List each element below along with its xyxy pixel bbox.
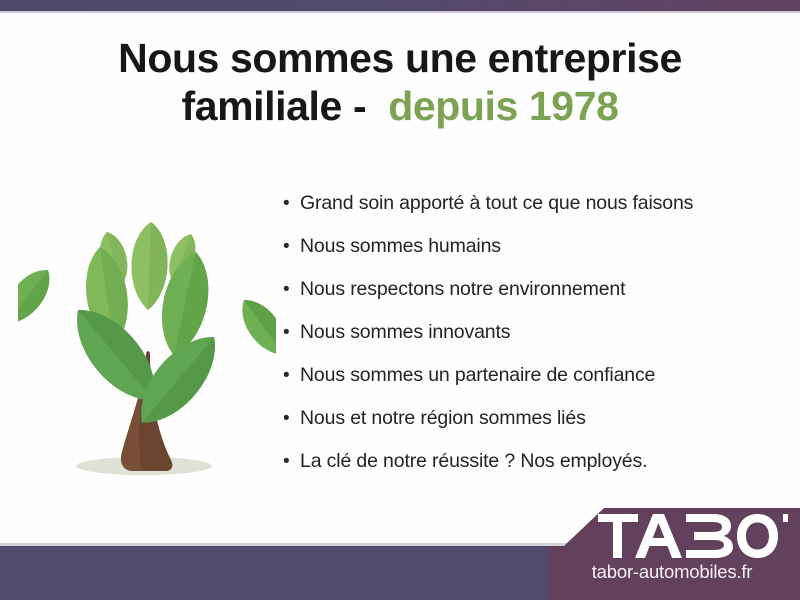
bullet-marker-icon: • <box>283 237 300 256</box>
list-item-label: Nous et notre région sommes liés <box>300 407 586 430</box>
top-accent-bar-edge <box>0 11 800 13</box>
logo-letter-t <box>598 514 638 558</box>
bullet-marker-icon: • <box>283 323 300 342</box>
title-line-2: familiale - depuis 1978 <box>0 82 800 130</box>
list-item: • Grand soin apporté à tout ce que nous … <box>283 192 783 235</box>
bullet-marker-icon: • <box>283 452 300 471</box>
bullet-marker-icon: • <box>283 194 300 213</box>
bullet-marker-icon: • <box>283 280 300 299</box>
bullet-list: • Grand soin apporté à tout ce que nous … <box>283 192 783 493</box>
bullet-marker-icon: • <box>283 366 300 385</box>
leaf-top-center <box>130 221 169 310</box>
list-item-label: Nous respectons notre environnement <box>300 278 625 301</box>
top-accent-bar <box>0 0 800 11</box>
title-dash-glyph: - <box>353 83 366 129</box>
list-item-label: Nous sommes un partenaire de confiance <box>300 364 655 387</box>
logo-letter-b <box>686 514 733 558</box>
leaf-left-side <box>18 261 60 333</box>
tree-illustration <box>18 182 276 490</box>
list-item: • Nous respectons notre environnement <box>283 278 783 321</box>
page-title: Nous sommes une entreprise familiale - d… <box>0 34 800 131</box>
list-item: • Nous sommes un partenaire de confiance <box>283 364 783 407</box>
logo-letter-o <box>737 514 778 558</box>
list-item-label: La clé de notre réussite ? Nos employés. <box>300 450 647 473</box>
title-line-2-plain: familiale <box>181 83 341 129</box>
list-item: • La clé de notre réussite ? Nos employé… <box>283 450 783 493</box>
title-line-1: Nous sommes une entreprise <box>0 34 800 82</box>
bullet-marker-icon: • <box>283 409 300 428</box>
list-item: • Nous et notre région sommes liés <box>283 407 783 450</box>
tabor-logo <box>598 514 788 558</box>
list-item: • Nous sommes innovants <box>283 321 783 364</box>
logo-url-text: tabor-automobiles.fr <box>548 561 796 583</box>
logo-letter-a <box>635 514 682 558</box>
title-dash <box>342 83 353 129</box>
list-item-label: Nous sommes innovants <box>300 321 510 344</box>
slide-canvas: Nous sommes une entreprise familiale - d… <box>0 0 800 600</box>
title-line-1-text: Nous sommes une entreprise <box>118 35 682 81</box>
list-item-label: Nous sommes humains <box>300 235 501 258</box>
list-item-label: Grand soin apporté à tout ce que nous fa… <box>300 192 693 215</box>
logo-letter-r <box>783 514 788 558</box>
leaf-right-side <box>232 291 276 364</box>
list-item: • Nous sommes humains <box>283 235 783 278</box>
title-accent-text: depuis 1978 <box>388 83 618 129</box>
title-spacer <box>366 83 388 129</box>
